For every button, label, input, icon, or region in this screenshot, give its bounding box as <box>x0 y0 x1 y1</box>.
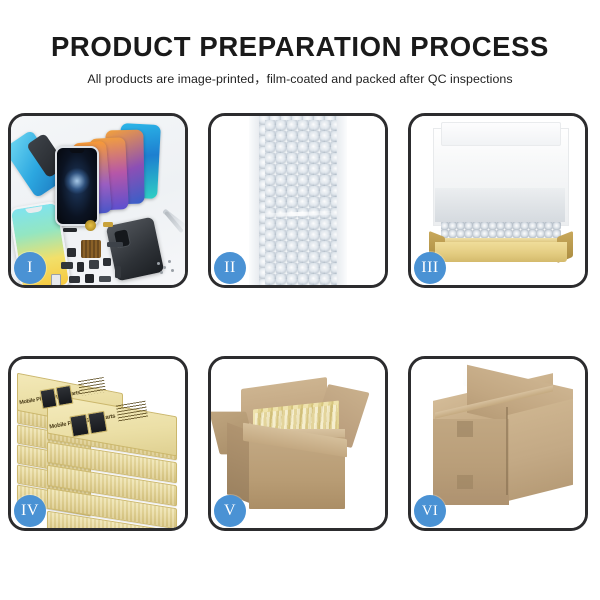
spare-part-icon <box>67 248 76 257</box>
spare-part-icon <box>69 276 80 283</box>
spare-part-icon <box>89 260 99 269</box>
front-glass-screen-icon <box>55 146 99 226</box>
box-interior-shadow <box>435 188 565 222</box>
pouch-edge <box>336 116 347 285</box>
step-badge-3: III <box>414 252 446 284</box>
spare-part-icon <box>85 274 94 283</box>
step-panel-6: VI <box>408 356 588 531</box>
header: PRODUCT PREPARATION PROCESS All products… <box>0 0 600 87</box>
step-panel-4: Mobile Phone Spare Parts Mobile Phone Sp… <box>8 356 188 531</box>
spare-part-icon <box>107 242 123 247</box>
step-badge-1: I <box>14 252 46 284</box>
printed-screen-image <box>56 385 74 406</box>
printed-screen-image <box>69 414 89 438</box>
page-title: PRODUCT PREPARATION PROCESS <box>0 0 600 62</box>
step-panel-2: II <box>208 113 388 288</box>
flex-cable-icon <box>81 240 101 258</box>
process-steps-grid: I II <box>8 113 592 531</box>
step-panel-1: I <box>8 113 188 288</box>
spare-part-icon <box>77 262 84 272</box>
carton-side-panel <box>507 399 573 501</box>
bubble-pattern <box>265 120 337 286</box>
step-badge-4: IV <box>14 495 46 527</box>
step-panel-5: V <box>208 356 388 531</box>
page-subtitle: All products are image-printed，film-coat… <box>0 62 600 87</box>
step-panel-3: III <box>408 113 588 288</box>
step-badge-6: VI <box>414 495 446 527</box>
carton-vertical-edge <box>506 407 508 495</box>
spare-part-icon <box>99 276 111 282</box>
step-badge-2: II <box>214 252 246 284</box>
spare-part-icon <box>61 262 73 269</box>
printed-screen-image <box>87 411 107 435</box>
product-preparation-process-infographic: PRODUCT PREPARATION PROCESS All products… <box>0 0 600 600</box>
printed-screen-image <box>40 388 58 409</box>
spare-part-icon <box>103 222 113 227</box>
sim-tray-icon <box>51 274 61 285</box>
spare-part-icon <box>63 228 77 232</box>
carton-hand-hole <box>457 475 473 489</box>
screws-icon <box>157 262 160 265</box>
camera-module-icon <box>85 220 96 231</box>
spare-part-icon <box>103 258 111 266</box>
carton-hand-hole <box>457 421 473 437</box>
open-box-lid-panel <box>441 122 561 146</box>
box-front-panel <box>435 242 567 262</box>
step-badge-5: V <box>214 495 246 527</box>
spare-part-icon <box>115 266 121 278</box>
